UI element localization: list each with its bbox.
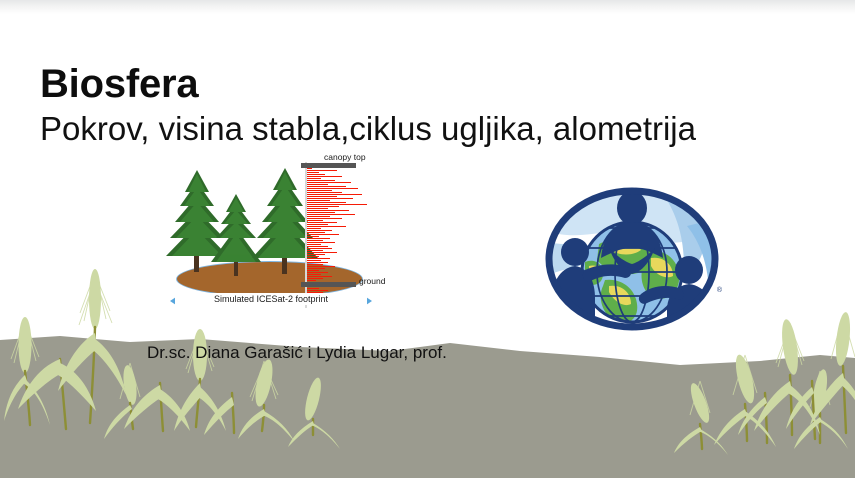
grass-blade (174, 383, 202, 431)
waveform-bar (307, 236, 319, 237)
slide-byline: Dr.sc. Diana Garašić i Lydia Lugar, prof… (147, 343, 447, 363)
waveform-bar (307, 192, 342, 193)
grass-blade (204, 397, 234, 435)
grass-blade (262, 411, 294, 441)
waveform-bar (307, 274, 321, 275)
waveform-bar (307, 230, 332, 231)
waveform-bar (307, 178, 321, 179)
grass-blade (18, 359, 62, 409)
registered-trademark-mark: ® (717, 287, 722, 294)
footprint-measure: Simulated ICESat-2 footprint (175, 293, 367, 309)
icesat-lidar-figure: canopy top ground Simulated ICESat-2 foo… (158, 156, 383, 308)
waveform-bar (307, 202, 346, 203)
grass-blade (23, 379, 50, 425)
grass-blade (810, 373, 845, 425)
waveform-bar (307, 212, 335, 213)
waveform-bar (307, 206, 339, 207)
slide-title: Biosfera (40, 64, 198, 104)
waveform-bar (307, 290, 328, 291)
waveform-bar (307, 234, 339, 235)
waveform-bar (307, 218, 342, 219)
grain-head (779, 318, 801, 375)
waveform-bar (307, 228, 321, 229)
canopy-top-marker (301, 163, 356, 168)
waveform-bar (307, 208, 328, 209)
waveform-bar (307, 252, 337, 253)
grass-blade (714, 409, 747, 445)
waveform-bar (307, 238, 330, 239)
waveform-bar (307, 204, 367, 205)
waveform-bar (307, 256, 319, 257)
waveform-bar (307, 172, 319, 173)
footprint-caption: Simulated ICESat-2 footprint (175, 293, 367, 305)
waveform-bar (307, 250, 323, 251)
waveform-bar (307, 240, 323, 241)
waveform-bar (307, 190, 332, 191)
waveform-bar (307, 214, 355, 215)
grain-head (687, 381, 713, 425)
waveform-bar (307, 174, 325, 175)
grass-blade (841, 377, 855, 429)
waveform-bar (307, 188, 358, 189)
waveform-bar (307, 194, 362, 195)
grain-head (252, 358, 276, 408)
grass-blade (124, 385, 162, 429)
waveform-bar (307, 200, 330, 201)
waveform-bar (307, 176, 342, 177)
ground-label: ground (359, 276, 385, 286)
waveform-bar (307, 220, 323, 221)
waveform-bar (307, 182, 351, 183)
grass-blade (104, 405, 132, 439)
grass-blade (788, 385, 820, 435)
grass-blade (58, 333, 97, 391)
waveform-bar (307, 210, 349, 211)
waveform-bar (307, 180, 335, 181)
waveform-bar (307, 222, 337, 223)
grass-blade (754, 381, 792, 431)
waveform-bar (307, 276, 332, 277)
grass-blade (674, 427, 702, 453)
waveform-bar (307, 232, 325, 233)
slide-subtitle: Pokrov, visina stabla,ciklus ugljika, al… (40, 112, 696, 145)
waveform-bar (307, 258, 330, 259)
grass-blade (288, 421, 314, 447)
grain-head (89, 269, 101, 329)
waveform-bar (307, 242, 335, 243)
waveform-bar (307, 198, 353, 199)
grass-blade (738, 397, 767, 435)
grass-blade (158, 389, 190, 431)
grass-clump-right (674, 311, 855, 455)
presentation-slide: Biosfera Pokrov, visina stabla,ciklus ug… (0, 0, 855, 478)
waveform-bar (307, 260, 321, 261)
waveform-bar (307, 288, 319, 289)
waveform-bar (307, 262, 328, 263)
grass-blade (94, 339, 126, 395)
grain-head (810, 368, 829, 413)
grain-head (302, 376, 324, 422)
top-gradient-band (0, 0, 855, 14)
grass-blade (58, 363, 96, 411)
grass-blade (198, 387, 226, 431)
waveform-bar (307, 248, 332, 249)
waveform-bar (307, 168, 312, 169)
waveform-bar (307, 184, 328, 185)
waveform-bar (307, 264, 323, 265)
waveform-bar (307, 244, 321, 245)
globe-program-logo: ® (537, 186, 727, 332)
ground-marker (301, 282, 356, 287)
waveform-bar (307, 272, 328, 273)
grass-blade (818, 419, 848, 449)
waveform-bar (307, 254, 325, 255)
grass-blade (786, 387, 814, 429)
grain-head (732, 353, 758, 405)
grass-blade (743, 411, 776, 447)
waveform-bar (307, 270, 319, 271)
waveform-bar (307, 224, 328, 225)
waveform-bar (307, 278, 323, 279)
waveform-bar (307, 170, 337, 171)
waveform-bar (307, 246, 328, 247)
grass-blade (238, 409, 266, 439)
canopy-top-label: canopy top (324, 152, 366, 162)
waveform-bar (307, 196, 337, 197)
grass-blade (4, 375, 27, 421)
grain-head (121, 364, 138, 405)
grain-head (834, 311, 853, 366)
waveform-bar (307, 226, 346, 227)
waveform-bar (307, 266, 335, 267)
grass-blade (311, 423, 340, 449)
grass-blade (794, 417, 822, 449)
waveform-bar (307, 216, 330, 217)
waveform-bar (307, 280, 316, 281)
waveform-bar (307, 186, 346, 187)
grass-blade (698, 429, 728, 455)
waveform-bar (307, 268, 325, 269)
grain-head (19, 317, 32, 373)
